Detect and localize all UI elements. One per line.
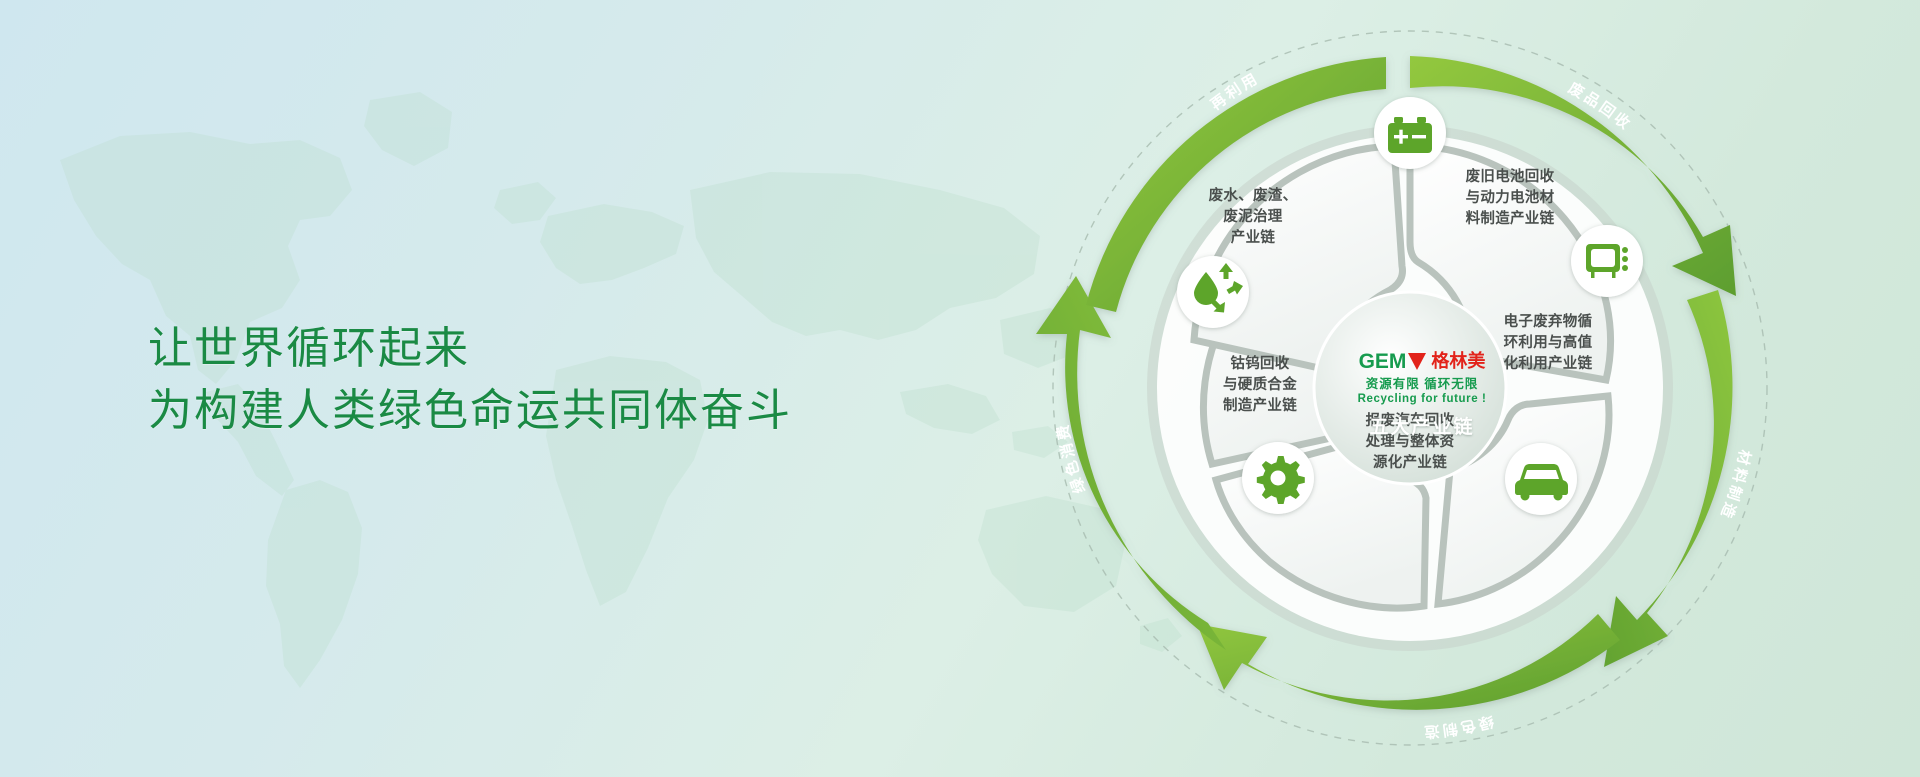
gem-logo-triangle-icon (1408, 353, 1426, 370)
page-title: 让世界循环起来 为构建人类绿色命运共同体奋斗 (148, 318, 792, 442)
gem-logo-chinese-name: 格林美 (1431, 351, 1485, 371)
gem-logo: GEM 格林美 资源有限 循环无限 Recycling for future ! (1342, 350, 1502, 405)
segment-label-battery: 废旧电池回收 与动力电池材 料制造产业链 (1420, 167, 1600, 230)
gem-logo-tagline-en: Recycling for future ! (1342, 393, 1502, 405)
gem-logo-wordmark: GEM 格林美 (1342, 350, 1502, 372)
headline-line-2: 为构建人类绿色命运共同体奋斗 (148, 380, 792, 442)
icon-bubble-battery[interactable] (1374, 97, 1446, 169)
icon-bubble-recycle-drop[interactable] (1177, 256, 1249, 328)
gem-logo-letters: GEM (1359, 351, 1407, 372)
arc-label-green-manufacture: 绿色制造 (1421, 712, 1496, 741)
segment-label-cobalt-tungsten: 钴钨回收 与硬质合金 制造产业链 (1180, 354, 1340, 417)
gem-logo-slogan: 资源有限 循环无限 (1342, 373, 1502, 392)
icon-bubble-car[interactable] (1505, 443, 1577, 515)
banner: 让世界循环起来 为构建人类绿色命运共同体奋斗 (0, 0, 1920, 777)
headline-line-1: 让世界循环起来 (148, 318, 792, 380)
icon-bubble-gear[interactable] (1242, 442, 1314, 514)
gear-icon (1257, 456, 1305, 504)
segment-label-waste-water: 废水、废渣、 废泥治理 产业链 (1168, 186, 1338, 249)
circular-economy-diagram: 废品回收 材料制造 绿色制造 绿色消费 再利用 (1020, 0, 1800, 777)
icon-bubble-television[interactable] (1571, 225, 1643, 297)
center-caption: 五大产业链 (1357, 412, 1487, 439)
